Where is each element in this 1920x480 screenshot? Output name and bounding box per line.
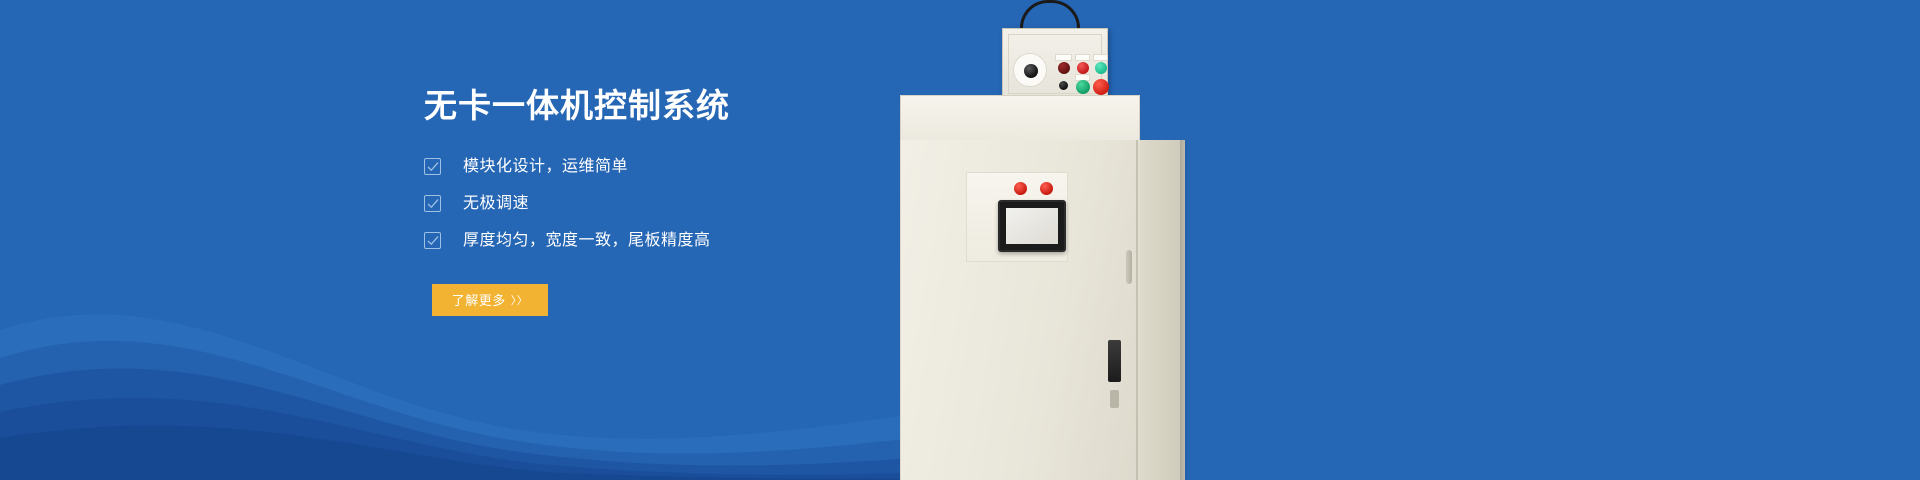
hmi-button-red-1[interactable]: [1014, 182, 1027, 195]
list-item: 厚度均匀，宽度一致，尾板精度高: [424, 230, 984, 252]
indicator-lamp-alarm[interactable]: [1095, 62, 1107, 74]
cable-icon: [1020, 0, 1080, 30]
chevron-right-icon: 〉〉: [511, 292, 529, 308]
indicator-lamp-small[interactable]: [1059, 81, 1068, 90]
indicator-lamp-run[interactable]: [1077, 62, 1089, 74]
page-title: 无卡一体机控制系统: [424, 86, 984, 126]
cabinet-side: [1140, 140, 1185, 480]
banner-content: 无卡一体机控制系统 模块化设计，运维简单 无极调速 厚度均匀，宽度一致，尾板精度…: [424, 86, 984, 316]
indicator-lamp-power[interactable]: [1058, 62, 1070, 74]
cabinet-vent: [1108, 340, 1121, 382]
hero-banner: 无卡一体机控制系统 模块化设计，运维简单 无极调速 厚度均匀，宽度一致，尾板精度…: [0, 0, 1920, 480]
list-item: 无极调速: [424, 193, 984, 215]
checkbox-checked-icon: [424, 232, 441, 249]
lamp-label: [1075, 54, 1090, 61]
control-panel: [1002, 28, 1108, 100]
feature-label: 厚度均匀，宽度一致，尾板精度高: [463, 233, 711, 249]
lamp-label: [1093, 54, 1108, 61]
learn-more-button[interactable]: 了解更多 〉〉: [432, 284, 548, 316]
checkbox-checked-icon: [424, 158, 441, 175]
start-button-green[interactable]: [1076, 80, 1090, 94]
feature-label: 无极调速: [463, 196, 529, 212]
list-item: 模块化设计，运维简单: [424, 156, 984, 178]
checkbox-checked-icon: [424, 195, 441, 212]
cabinet-edge: [1136, 140, 1138, 480]
learn-more-label: 了解更多: [452, 290, 506, 309]
hmi-touchscreen[interactable]: [998, 200, 1066, 252]
selector-knob-plate: [1013, 53, 1047, 87]
hmi-screen-surface: [1006, 208, 1058, 244]
cabinet-vent-lower: [1110, 390, 1119, 408]
selector-knob[interactable]: [1024, 64, 1038, 78]
feature-list: 模块化设计，运维简单 无极调速 厚度均匀，宽度一致，尾板精度高: [424, 156, 984, 252]
feature-label: 模块化设计，运维简单: [463, 159, 628, 175]
lamp-label: [1055, 54, 1072, 61]
cabinet-shadow: [1180, 140, 1188, 480]
emergency-stop-button[interactable]: [1093, 79, 1109, 95]
cabinet-door-handle[interactable]: [1126, 250, 1132, 284]
hmi-button-red-2[interactable]: [1040, 182, 1053, 195]
